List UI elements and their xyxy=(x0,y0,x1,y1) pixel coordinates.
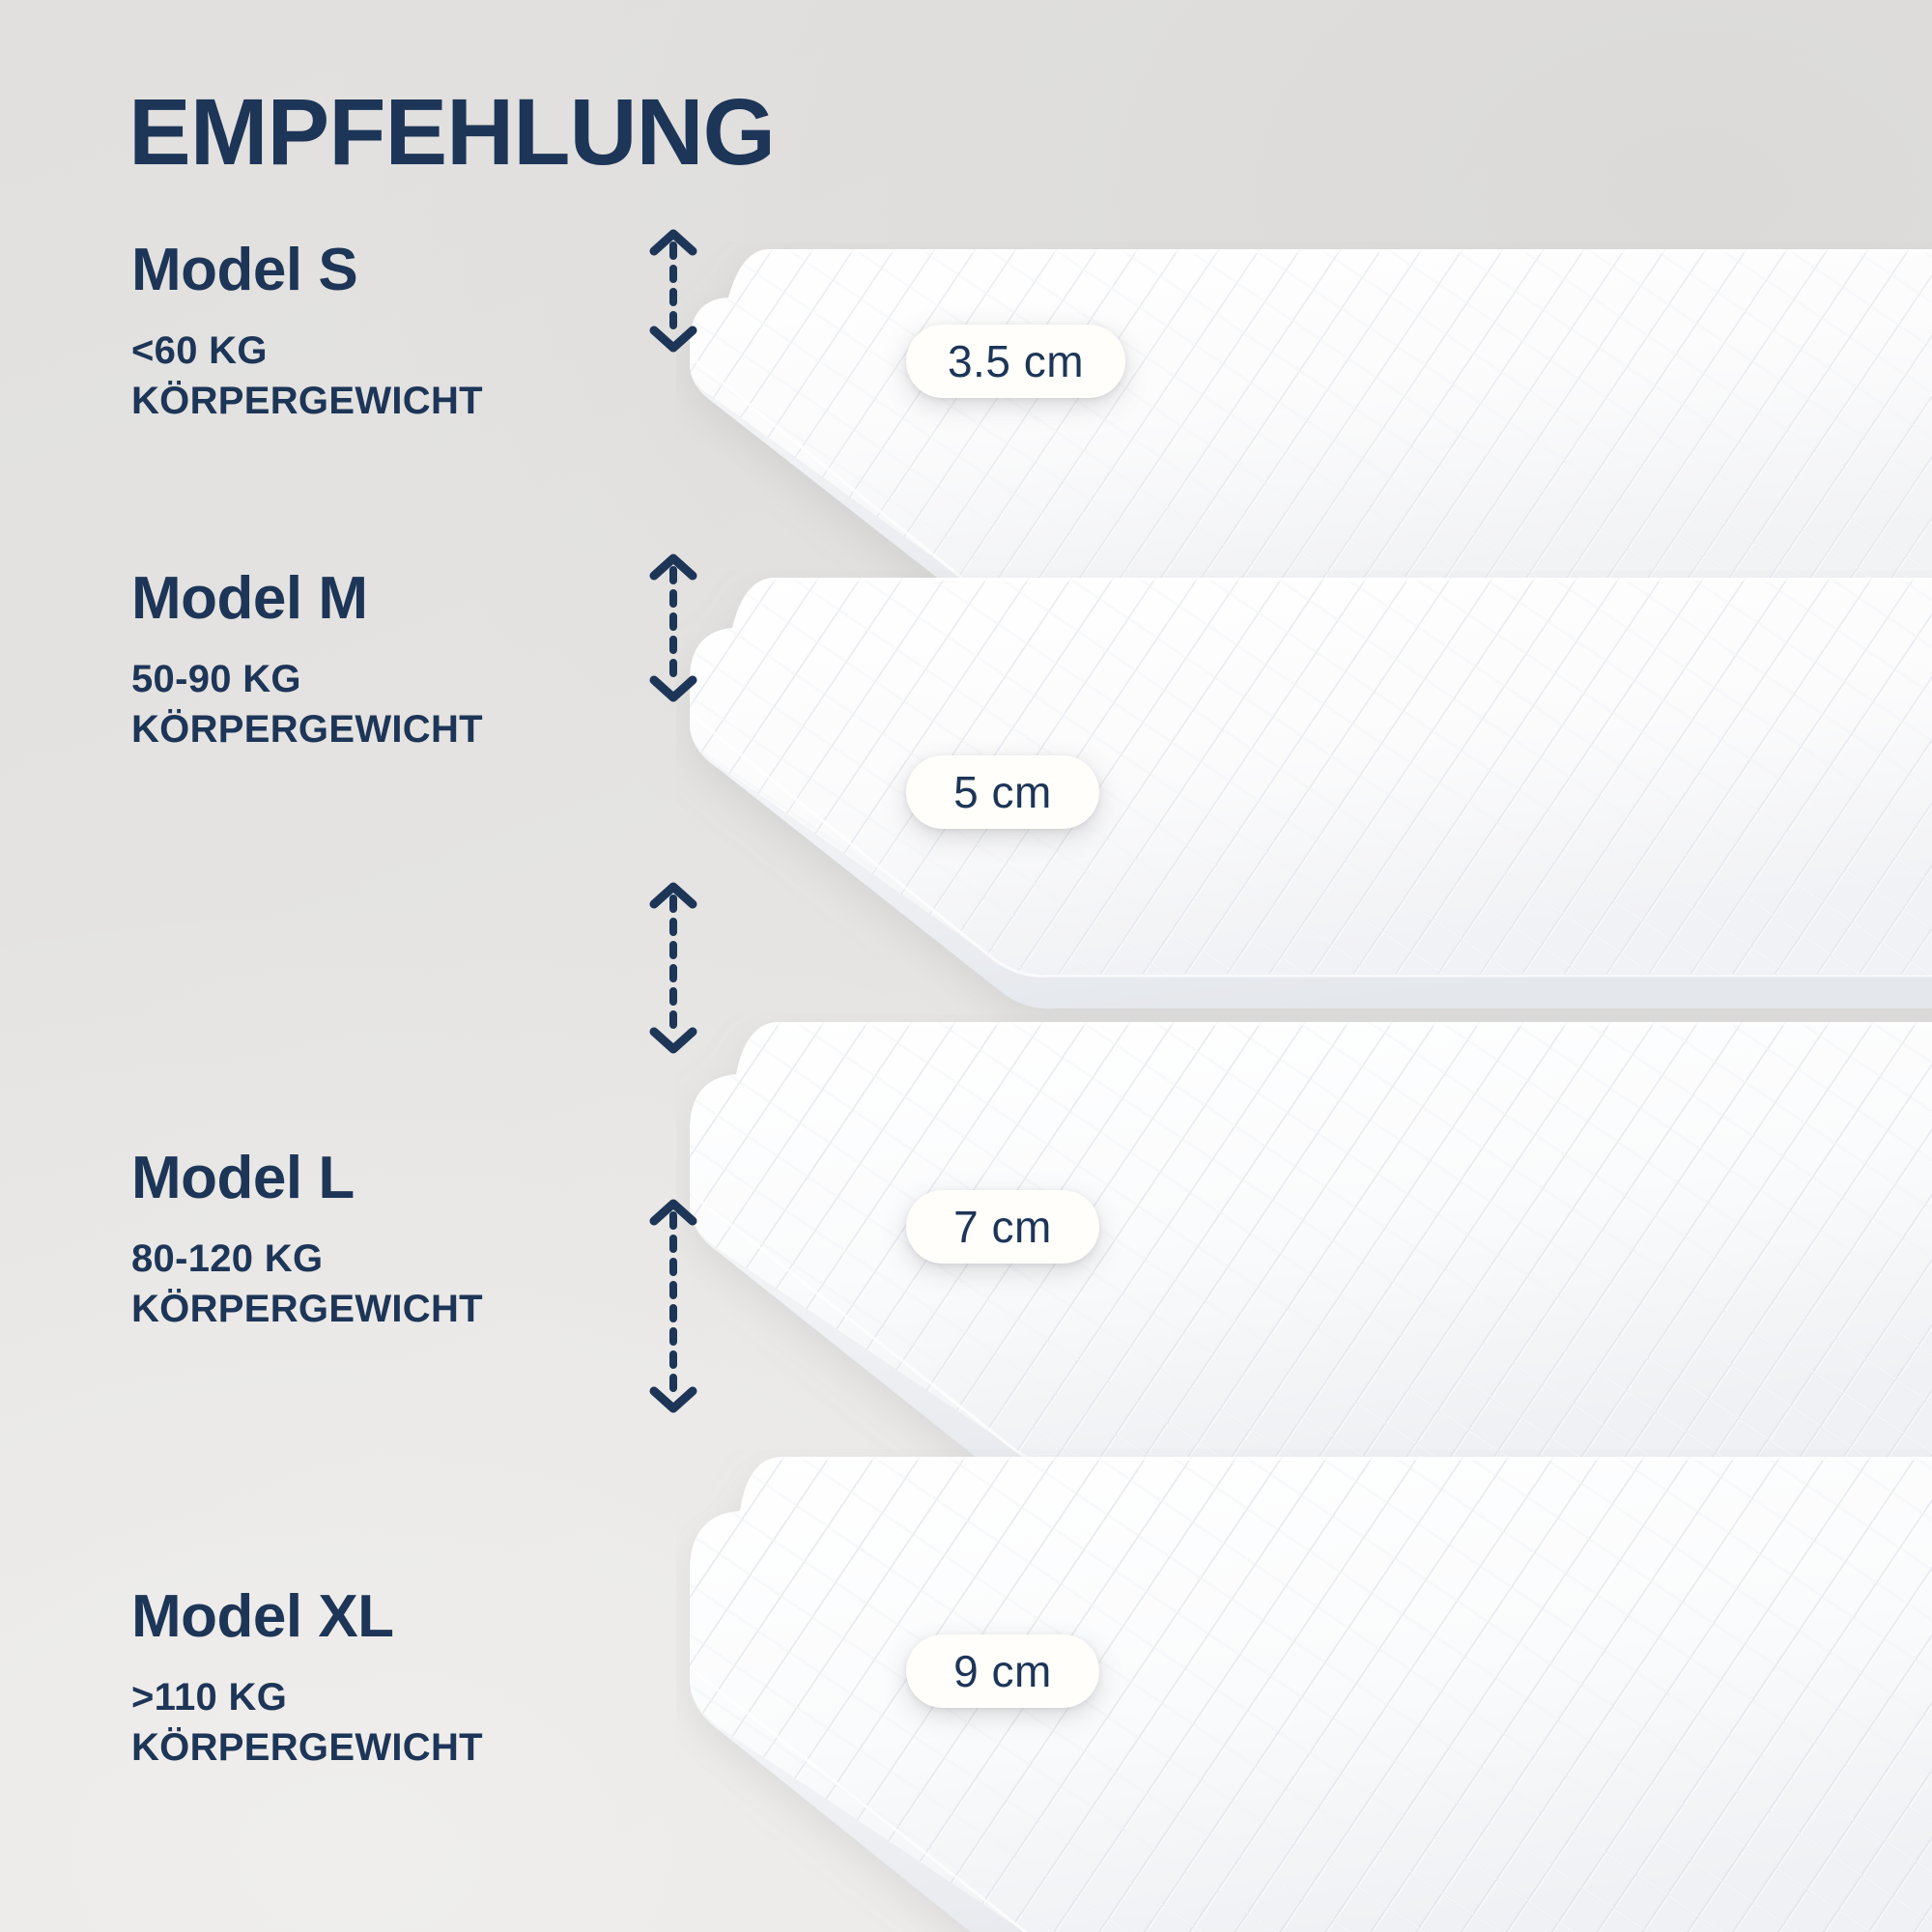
dimension-arrow-m xyxy=(642,553,704,703)
mattress-slab-xl xyxy=(676,1449,1932,1932)
weight-caption-s: KÖRPERGEWICHT xyxy=(131,377,585,426)
weight-range-xl: >110 KG xyxy=(131,1673,585,1722)
dimension-arrow-s xyxy=(642,228,704,354)
thickness-badge-s: 3.5 cm xyxy=(906,325,1125,398)
thickness-badge-m: 5 cm xyxy=(906,755,1099,829)
weight-range-s: <60 KG xyxy=(131,327,585,376)
mattress-slab-m xyxy=(676,570,1932,1053)
mattress-art-m xyxy=(676,570,1932,1053)
product-row-s: Model S <60 KG KÖRPERGEWICHT xyxy=(131,240,585,426)
dimension-arrow-xl xyxy=(642,1198,704,1414)
model-name-m: Model M xyxy=(131,568,585,630)
model-name-xl: Model XL xyxy=(131,1586,585,1648)
model-name-l: Model L xyxy=(131,1148,585,1209)
infographic-canvas: EMPFEHLUNG xyxy=(0,0,1932,1932)
weight-range-l: 80-120 KG xyxy=(131,1235,585,1284)
weight-range-m: 50-90 KG xyxy=(131,655,585,704)
thickness-badge-xl: 9 cm xyxy=(906,1634,1099,1708)
weight-spec-s: <60 KG KÖRPERGEWICHT xyxy=(131,327,585,425)
weight-spec-xl: >110 KG KÖRPERGEWICHT xyxy=(131,1673,585,1772)
weight-spec-m: 50-90 KG KÖRPERGEWICHT xyxy=(131,655,585,753)
model-name-s: Model S xyxy=(131,240,585,301)
weight-spec-l: 80-120 KG KÖRPERGEWICHT xyxy=(131,1235,585,1333)
dimension-arrow-l xyxy=(642,881,704,1055)
mattress-art-xl xyxy=(676,1449,1932,1932)
product-row-l: Model L 80-120 KG KÖRPERGEWICHT xyxy=(131,1148,585,1334)
product-row-m: Model M 50-90 KG KÖRPERGEWICHT xyxy=(131,568,585,754)
thickness-badge-l: 7 cm xyxy=(906,1190,1099,1264)
weight-caption-m: KÖRPERGEWICHT xyxy=(131,705,585,754)
weight-caption-l: KÖRPERGEWICHT xyxy=(131,1285,585,1334)
weight-caption-xl: KÖRPERGEWICHT xyxy=(131,1723,585,1773)
page-title: EMPFEHLUNG xyxy=(128,85,775,179)
product-row-xl: Model XL >110 KG KÖRPERGEWICHT xyxy=(131,1586,585,1773)
